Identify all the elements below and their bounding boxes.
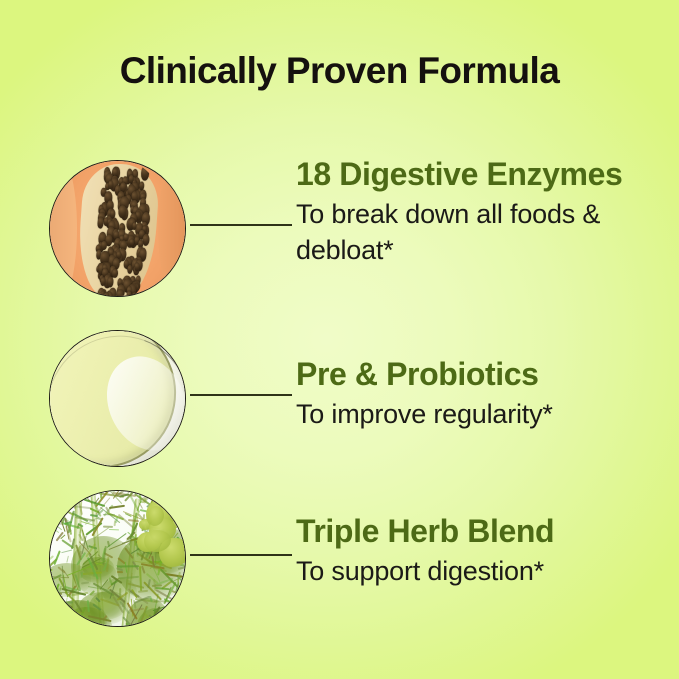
feature-thumbnail-petri-dish [49, 330, 186, 467]
feature-text-block: Triple Herb Blend To support digestion* [296, 512, 666, 589]
feature-text-block: Pre & Probiotics To improve regularity* [296, 355, 666, 432]
feature-heading: Triple Herb Blend [296, 512, 666, 551]
petri-dish-icon [50, 331, 185, 466]
infographic-panel: Clinically Proven Formula 18 Digestive E… [0, 0, 679, 679]
fennel-herb-icon [50, 491, 185, 626]
feature-row: Pre & Probiotics To improve regularity* [0, 323, 679, 473]
feature-row: 18 Digestive Enzymes To break down all f… [0, 153, 679, 303]
feature-row: Triple Herb Blend To support digestion* [0, 483, 679, 633]
feature-thumbnail-papaya [49, 160, 186, 297]
feature-subtext: To support digestion* [296, 553, 666, 589]
page-title: Clinically Proven Formula [0, 48, 679, 94]
feature-thumbnail-fennel [49, 490, 186, 627]
feature-heading: Pre & Probiotics [296, 355, 666, 394]
connector-line [190, 394, 292, 396]
feature-subtext: To break down all foods & debloat* [296, 196, 666, 268]
feature-text-block: 18 Digestive Enzymes To break down all f… [296, 155, 666, 268]
connector-line [190, 224, 292, 226]
feature-heading: 18 Digestive Enzymes [296, 155, 666, 194]
feature-subtext: To improve regularity* [296, 396, 666, 432]
connector-line [190, 554, 292, 556]
papaya-icon [50, 161, 185, 296]
